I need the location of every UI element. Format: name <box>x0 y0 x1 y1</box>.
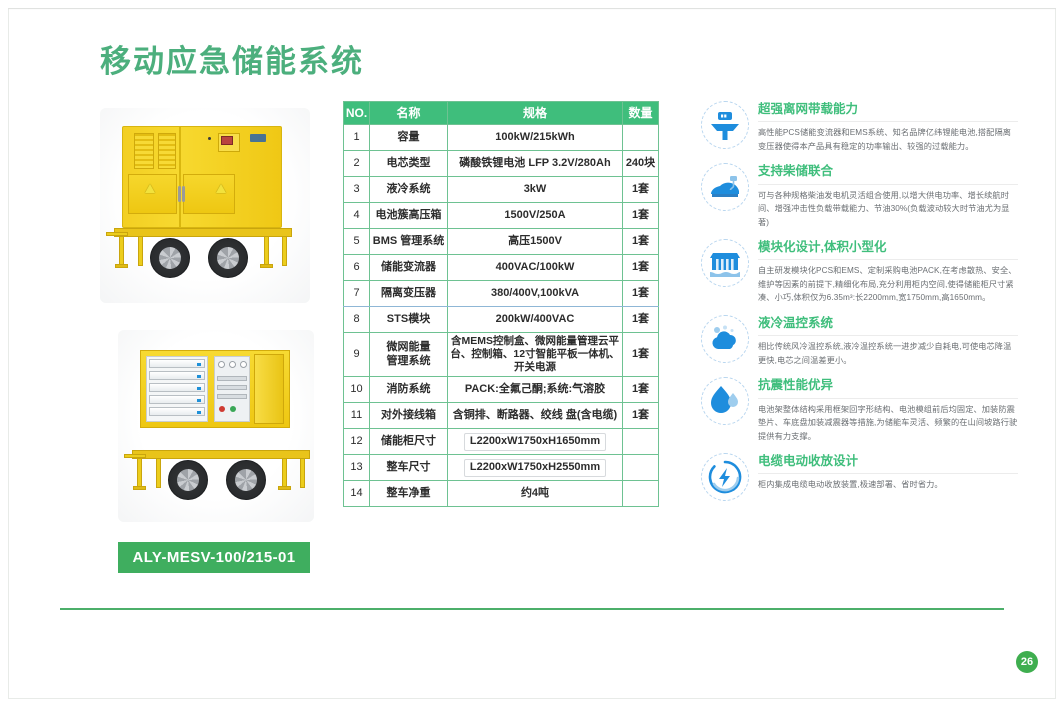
page-number-badge: 26 <box>1016 651 1038 673</box>
module-led <box>197 375 201 378</box>
cell-name: 对外接线箱 <box>370 403 448 429</box>
wheel-rim <box>217 247 239 269</box>
control-panel-screen <box>221 136 233 145</box>
cell-name: 储能变流器 <box>370 255 448 281</box>
battery-module <box>149 359 205 368</box>
cell-qty: 240块 <box>623 151 659 177</box>
cell-qty: 1套 <box>623 229 659 255</box>
outrigger-leg <box>264 236 269 266</box>
column-header-no: NO. <box>344 102 370 125</box>
table-row: 11对外接线箱含铜排、断路器、绞线 盘(含电缆)1套 <box>344 403 659 429</box>
cell-no: 12 <box>344 429 370 455</box>
model-number-badge: ALY-MESV-100/215-01 <box>118 542 310 573</box>
grid-battery-icon <box>700 100 750 150</box>
feature-description: 可与各种规格柴油发电机灵活组合使用,以增大供电功率、增长续航时间、增强冲击性负载… <box>758 189 1018 230</box>
wheel-rim <box>159 247 181 269</box>
breaker-row <box>217 376 247 381</box>
cell-name: 电芯类型 <box>370 151 448 177</box>
battery-module <box>149 383 205 392</box>
battery-module <box>149 407 205 416</box>
cell-spec: 3kW <box>448 177 623 203</box>
cell-name: 整车尺寸 <box>370 455 448 481</box>
cell-name: 容量 <box>370 125 448 151</box>
module-led <box>197 363 201 366</box>
indicator-dot <box>208 137 211 140</box>
cell-name: 整车净重 <box>370 481 448 507</box>
cell-no: 7 <box>344 281 370 307</box>
cell-name: 微网能量管理系统 <box>370 333 448 377</box>
cell-spec: 约4吨 <box>448 481 623 507</box>
outrigger-leg <box>156 458 161 488</box>
feature-text: 模块化设计,体积小型化自主研发模块化PCS和EMS、定制采购电池PACK,在考虑… <box>758 238 1018 305</box>
module-led <box>197 411 201 414</box>
table-row: 5BMS 管理系统高压1500V1套 <box>344 229 659 255</box>
cell-no: 5 <box>344 229 370 255</box>
feature-item: 抗震性能优异电池架整体结构采用框架回字形结构、电池模组前后均固定、加装防震垫片、… <box>700 376 1018 443</box>
feature-description: 柜内集成电缆电动收放装置,极速部署、省时省力。 <box>758 478 1018 492</box>
outrigger-foot <box>133 486 146 490</box>
cell-qty: 1套 <box>623 377 659 403</box>
outrigger-leg <box>300 458 305 488</box>
cell-name: STS模块 <box>370 307 448 333</box>
open-cabinet-trailer-image <box>118 330 314 522</box>
table-row: 12储能柜尺寸L2200xW1750xH1650mm <box>344 429 659 455</box>
cell-qty: 1套 <box>623 281 659 307</box>
brand-logo <box>250 134 266 142</box>
breaker-row <box>217 385 247 390</box>
cell-name: 液冷系统 <box>370 177 448 203</box>
cell-spec: 1500V/250A <box>448 203 623 229</box>
feature-description: 高性能PCS储能变流器和EMS系统、知名品牌亿纬锂能电池,搭配隔离变压器使得本产… <box>758 126 1018 153</box>
feature-text: 抗震性能优异电池架整体结构采用框架回字形结构、电池模组前后均固定、加装防震垫片、… <box>758 376 1018 443</box>
vent-louver-left <box>134 133 154 169</box>
cell-no: 14 <box>344 481 370 507</box>
liquid-cooling-cloud-icon <box>700 314 750 364</box>
wheel-rim <box>177 469 199 491</box>
feature-title: 电缆电动收放设计 <box>758 453 1018 474</box>
door-handle-right <box>182 186 185 202</box>
table-row: 9微网能量管理系统含MEMS控制盒、微网能量管理云平台、控制箱、12寸智能平板一… <box>344 333 659 377</box>
breaker-row <box>217 394 247 399</box>
feature-text: 液冷温控系统相比传统风冷温控系统,液冷温控系统一进步减少自耗电,可使电芯降温更快… <box>758 314 1018 367</box>
feature-list: 超强离网带载能力高性能PCS储能变流器和EMS系统、知名品牌亿纬锂能电池,搭配隔… <box>700 100 1018 511</box>
feature-text: 电缆电动收放设计柜内集成电缆电动收放装置,极速部署、省时省力。 <box>758 452 1018 492</box>
enclosure-seam <box>179 126 181 228</box>
cell-name: 电池簇高压箱 <box>370 203 448 229</box>
table-row: 4电池簇高压箱1500V/250A1套 <box>344 203 659 229</box>
trailer-wheel <box>226 460 266 500</box>
meter-gauge <box>240 361 247 368</box>
cell-name: 储能柜尺寸 <box>370 429 448 455</box>
door-handle-left <box>178 186 181 202</box>
cell-no: 2 <box>344 151 370 177</box>
cell-name: BMS 管理系统 <box>370 229 448 255</box>
feature-item: 电缆电动收放设计柜内集成电缆电动收放装置,极速部署、省时省力。 <box>700 452 1018 502</box>
cell-no: 1 <box>344 125 370 151</box>
feature-item: 超强离网带载能力高性能PCS储能变流器和EMS系统、知名品牌亿纬锂能电池,搭配隔… <box>700 100 1018 153</box>
feature-text: 支持柴储联合可与各种规格柴油发电机灵活组合使用,以增大供电功率、增长续航时间、增… <box>758 162 1018 229</box>
specification-table: NO. 名称 规格 数量 1容量100kW/215kWh2电芯类型磷酸铁锂电池 … <box>343 101 659 507</box>
outrigger-leg <box>119 236 124 266</box>
cell-qty <box>623 481 659 507</box>
cell-qty <box>623 125 659 151</box>
feature-item: 模块化设计,体积小型化自主研发模块化PCS和EMS、定制采购电池PACK,在考虑… <box>700 238 1018 305</box>
cell-qty: 1套 <box>623 307 659 333</box>
cell-name: 隔离变压器 <box>370 281 448 307</box>
cell-spec: 380/400V,100kVA <box>448 281 623 307</box>
column-header-name: 名称 <box>370 102 448 125</box>
trailer-wheel <box>208 238 248 278</box>
feature-description: 电池架整体结构采用框架回字形结构、电池模组前后均固定、加装防震垫片、车底盘加装减… <box>758 403 1018 444</box>
cell-spec: 含MEMS控制盒、微网能量管理云平台、控制箱、12寸智能平板一体机、开关电源 <box>448 333 623 377</box>
feature-item: 液冷温控系统相比传统风冷温控系统,液冷温控系统一进步减少自耗电,可使电芯降温更快… <box>700 314 1018 367</box>
cell-no: 8 <box>344 307 370 333</box>
access-door-right <box>183 174 235 214</box>
cell-spec: L2200xW1750xH1650mm <box>448 429 623 455</box>
cell-spec: 200kW/400VAC <box>448 307 623 333</box>
feature-text: 超强离网带载能力高性能PCS储能变流器和EMS系统、知名品牌亿纬锂能电池,搭配隔… <box>758 100 1018 153</box>
column-header-spec: 规格 <box>448 102 623 125</box>
feature-title: 模块化设计,体积小型化 <box>758 239 1018 260</box>
outrigger-leg <box>282 236 287 266</box>
cell-spec: L2200xW1750xH2550mm <box>448 455 623 481</box>
modular-cabinet-icon <box>700 238 750 288</box>
outrigger-leg <box>137 458 142 488</box>
cell-no: 13 <box>344 455 370 481</box>
cell-no: 9 <box>344 333 370 377</box>
battery-module <box>149 371 205 380</box>
table-row: 14整车净重约4吨 <box>344 481 659 507</box>
table-row: 10消防系统PACK:全氟己酮;系统:气溶胶1套 <box>344 377 659 403</box>
table-row: 3液冷系统3kW1套 <box>344 177 659 203</box>
table-row: 2电芯类型磷酸铁锂电池 LFP 3.2V/280Ah240块 <box>344 151 659 177</box>
feature-title: 液冷温控系统 <box>758 315 1018 336</box>
cell-spec: PACK:全氟己酮;系统:气溶胶 <box>448 377 623 403</box>
outrigger-foot <box>278 486 291 490</box>
cell-spec: 含铜排、断路器、绞线 盘(含电缆) <box>448 403 623 429</box>
column-header-qty: 数量 <box>623 102 659 125</box>
outrigger-foot <box>115 264 128 268</box>
outrigger-leg <box>138 236 143 266</box>
table-row: 8STS模块200kW/400VAC1套 <box>344 307 659 333</box>
cell-qty: 1套 <box>623 403 659 429</box>
cell-qty: 1套 <box>623 333 659 377</box>
cell-spec: 100kW/215kWh <box>448 125 623 151</box>
boxed-dimension-value: L2200xW1750xH2550mm <box>464 459 606 477</box>
emergency-stop-button <box>219 406 225 412</box>
footer-divider <box>60 608 1004 610</box>
warning-triangle-icon-left <box>145 184 155 193</box>
cell-qty <box>623 429 659 455</box>
vent-louver-right <box>158 133 176 169</box>
table-row: 7隔离变压器380/400V,100kVA1套 <box>344 281 659 307</box>
trailer-wheel <box>150 238 190 278</box>
cell-name: 消防系统 <box>370 377 448 403</box>
warning-triangle-icon-right <box>216 184 226 193</box>
top-shadow <box>8 8 1056 10</box>
meter-gauge <box>229 361 236 368</box>
trailer-tongue <box>106 232 128 236</box>
table-header-row: NO. 名称 规格 数量 <box>344 102 659 125</box>
module-led <box>197 387 201 390</box>
cell-spec: 磷酸铁锂电池 LFP 3.2V/280Ah <box>448 151 623 177</box>
feature-description: 自主研发模块化PCS和EMS、定制采购电池PACK,在考虑散热、安全、维护等因素… <box>758 264 1018 305</box>
feature-item: 支持柴储联合可与各种规格柴油发电机灵活组合使用,以增大供电功率、增长续航时间、增… <box>700 162 1018 229</box>
closed-generator-trailer-image <box>100 108 310 303</box>
cell-spec: 400VAC/100kW <box>448 255 623 281</box>
cell-no: 3 <box>344 177 370 203</box>
slide-canvas: 移动应急储能系统 <box>0 0 1064 707</box>
trailer-wheel <box>168 460 208 500</box>
table-row: 1容量100kW/215kWh <box>344 125 659 151</box>
meter-gauge <box>218 361 225 368</box>
feature-title: 超强离网带载能力 <box>758 101 1018 122</box>
cell-qty: 1套 <box>623 203 659 229</box>
cell-spec: 高压1500V <box>448 229 623 255</box>
boxed-dimension-value: L2200xW1750xH1650mm <box>464 433 606 451</box>
page-title: 移动应急储能系统 <box>100 36 364 81</box>
cell-no: 11 <box>344 403 370 429</box>
outrigger-leg <box>282 458 287 488</box>
feature-title: 支持柴储联合 <box>758 163 1018 184</box>
module-led <box>197 399 201 402</box>
feature-title: 抗震性能优异 <box>758 377 1018 398</box>
start-button <box>230 406 236 412</box>
wheel-rim <box>235 469 257 491</box>
battery-module <box>149 395 205 404</box>
cell-qty: 1套 <box>623 255 659 281</box>
feature-description: 相比传统风冷温控系统,液冷温控系统一进步减少自耗电,可使电芯降温更快,电芯之间温… <box>758 340 1018 367</box>
cabinet-open-door <box>254 354 284 424</box>
cable-reel-lightning-icon <box>700 452 750 502</box>
cell-no: 6 <box>344 255 370 281</box>
table-row: 13整车尺寸L2200xW1750xH2550mm <box>344 455 659 481</box>
electric-car-charging-icon <box>700 162 750 212</box>
table-body: 1容量100kW/215kWh2电芯类型磷酸铁锂电池 LFP 3.2V/280A… <box>344 125 659 507</box>
cell-qty: 1套 <box>623 177 659 203</box>
shock-resistant-droplet-icon <box>700 376 750 426</box>
cell-no: 10 <box>344 377 370 403</box>
cell-no: 4 <box>344 203 370 229</box>
table-row: 6储能变流器400VAC/100kW1套 <box>344 255 659 281</box>
outrigger-foot <box>260 264 273 268</box>
trailer-tongue <box>124 454 146 458</box>
access-door-left <box>128 174 177 214</box>
cell-qty <box>623 455 659 481</box>
